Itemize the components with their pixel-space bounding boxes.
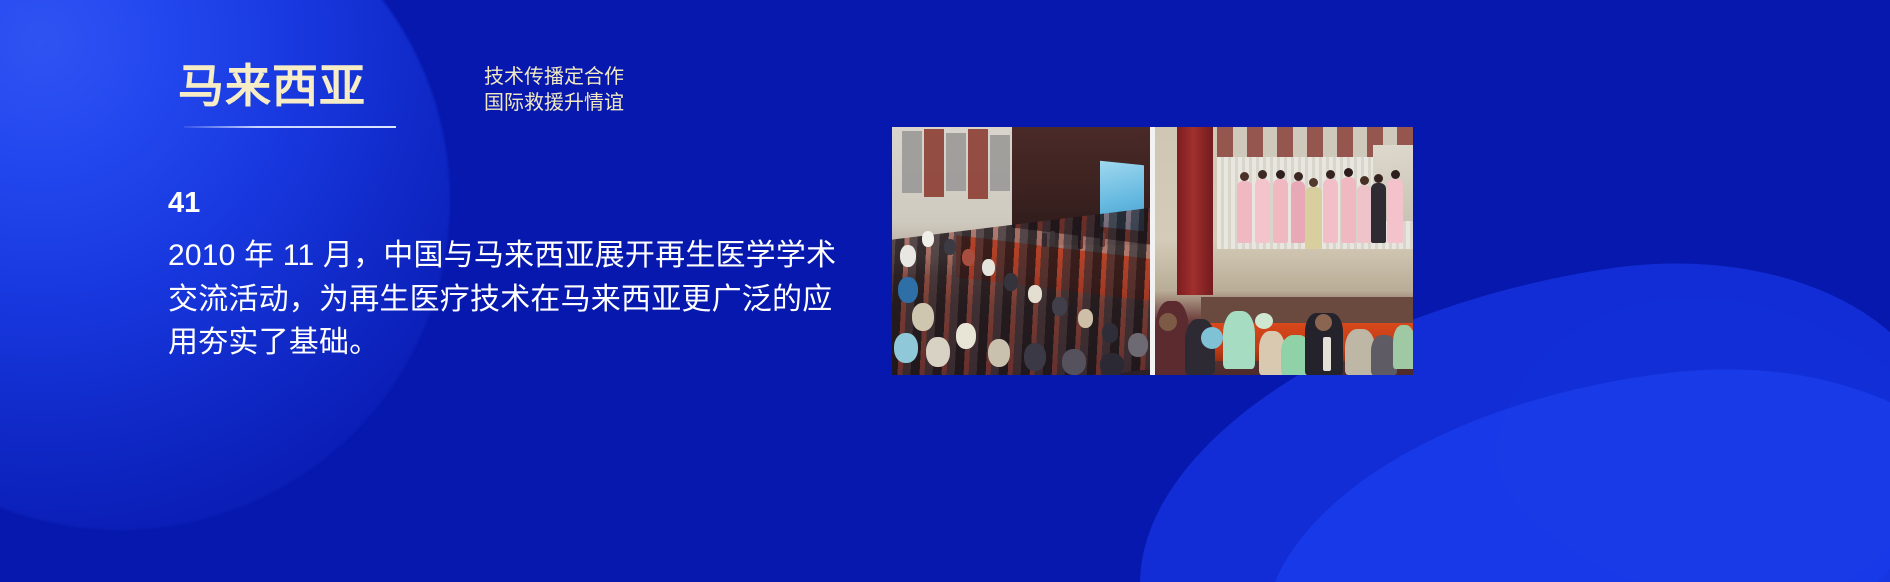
audience-member — [1004, 273, 1018, 291]
person-head — [1240, 172, 1249, 181]
wall-panel — [946, 133, 966, 191]
audience-member — [912, 303, 934, 331]
stage-person — [1323, 179, 1338, 243]
audience-member — [1062, 349, 1086, 375]
audience-member — [1078, 309, 1093, 328]
person-head — [1326, 170, 1335, 179]
audience-member — [982, 259, 995, 276]
audience-member — [894, 333, 918, 363]
stage-person — [1291, 181, 1305, 243]
wall-panel — [902, 131, 922, 193]
audience-member — [898, 277, 918, 303]
subtitle-line-2: 国际救援升情谊 — [484, 91, 624, 117]
stage-person — [1341, 177, 1356, 243]
stage-person — [1273, 179, 1288, 243]
person-head — [1344, 168, 1353, 177]
person-head — [1391, 170, 1400, 179]
person-headscarf — [1201, 327, 1223, 349]
subtitle-block: 技术传播定合作 国际救援升情谊 — [484, 65, 624, 116]
stage-person — [1305, 187, 1322, 249]
foreground-person — [1223, 311, 1255, 369]
red-curtain — [1177, 127, 1213, 295]
stage-person — [1237, 181, 1252, 243]
title-block: 马来西亚 — [178, 62, 366, 110]
audience-member — [922, 231, 934, 247]
stage-group-photo — [1155, 127, 1413, 375]
audience-member — [962, 249, 975, 266]
person-head — [1159, 313, 1177, 331]
audience-member — [1028, 285, 1042, 303]
page-title: 马来西亚 — [178, 62, 366, 110]
person-head — [1258, 170, 1267, 179]
foreground-person — [1393, 325, 1413, 369]
person-head — [1294, 172, 1303, 181]
item-paragraph: 2010 年 11 月，中国与马来西亚展开再生医学学术交流活动，为再生医疗技术在… — [168, 234, 848, 365]
slide-header: 马来西亚 技术传播定合作 国际救援升情谊 — [178, 62, 624, 116]
stage-person — [1357, 185, 1371, 243]
auditorium-lecture-photo — [892, 127, 1150, 375]
subtitle-line-1: 技术传播定合作 — [484, 65, 624, 91]
wall-panel — [924, 129, 944, 197]
audience-member — [956, 323, 976, 349]
person-head — [1360, 176, 1369, 185]
audience-member — [900, 245, 916, 267]
item-number: 41 — [168, 188, 848, 220]
audience-member — [1100, 353, 1124, 375]
audience-member — [1128, 333, 1148, 357]
audience-member — [1024, 343, 1046, 371]
audience-member — [1052, 297, 1067, 316]
foreground-person — [1155, 301, 1189, 375]
shirt-front — [1323, 337, 1331, 371]
stage-person — [1255, 179, 1270, 243]
content-block: 41 2010 年 11 月，中国与马来西亚展开再生医学学术交流活动，为再生医疗… — [168, 188, 848, 365]
title-underline-rule — [184, 126, 396, 128]
person-head — [1315, 314, 1332, 331]
audience-member — [926, 337, 950, 367]
audience-member — [1102, 323, 1118, 343]
person-headscarf — [1255, 313, 1273, 329]
person-head — [1276, 170, 1285, 179]
photo-strip — [892, 127, 1413, 375]
wall-panel — [968, 129, 988, 199]
audience-member — [944, 239, 956, 255]
slide-canvas: 马来西亚 技术传播定合作 国际救援升情谊 41 2010 年 11 月，中国与马… — [0, 0, 1890, 582]
audience-member — [988, 339, 1010, 367]
person-head — [1374, 174, 1383, 183]
wall-panel — [990, 135, 1010, 191]
stage-person — [1387, 179, 1403, 243]
person-head — [1309, 178, 1318, 187]
stage-person — [1371, 183, 1386, 243]
